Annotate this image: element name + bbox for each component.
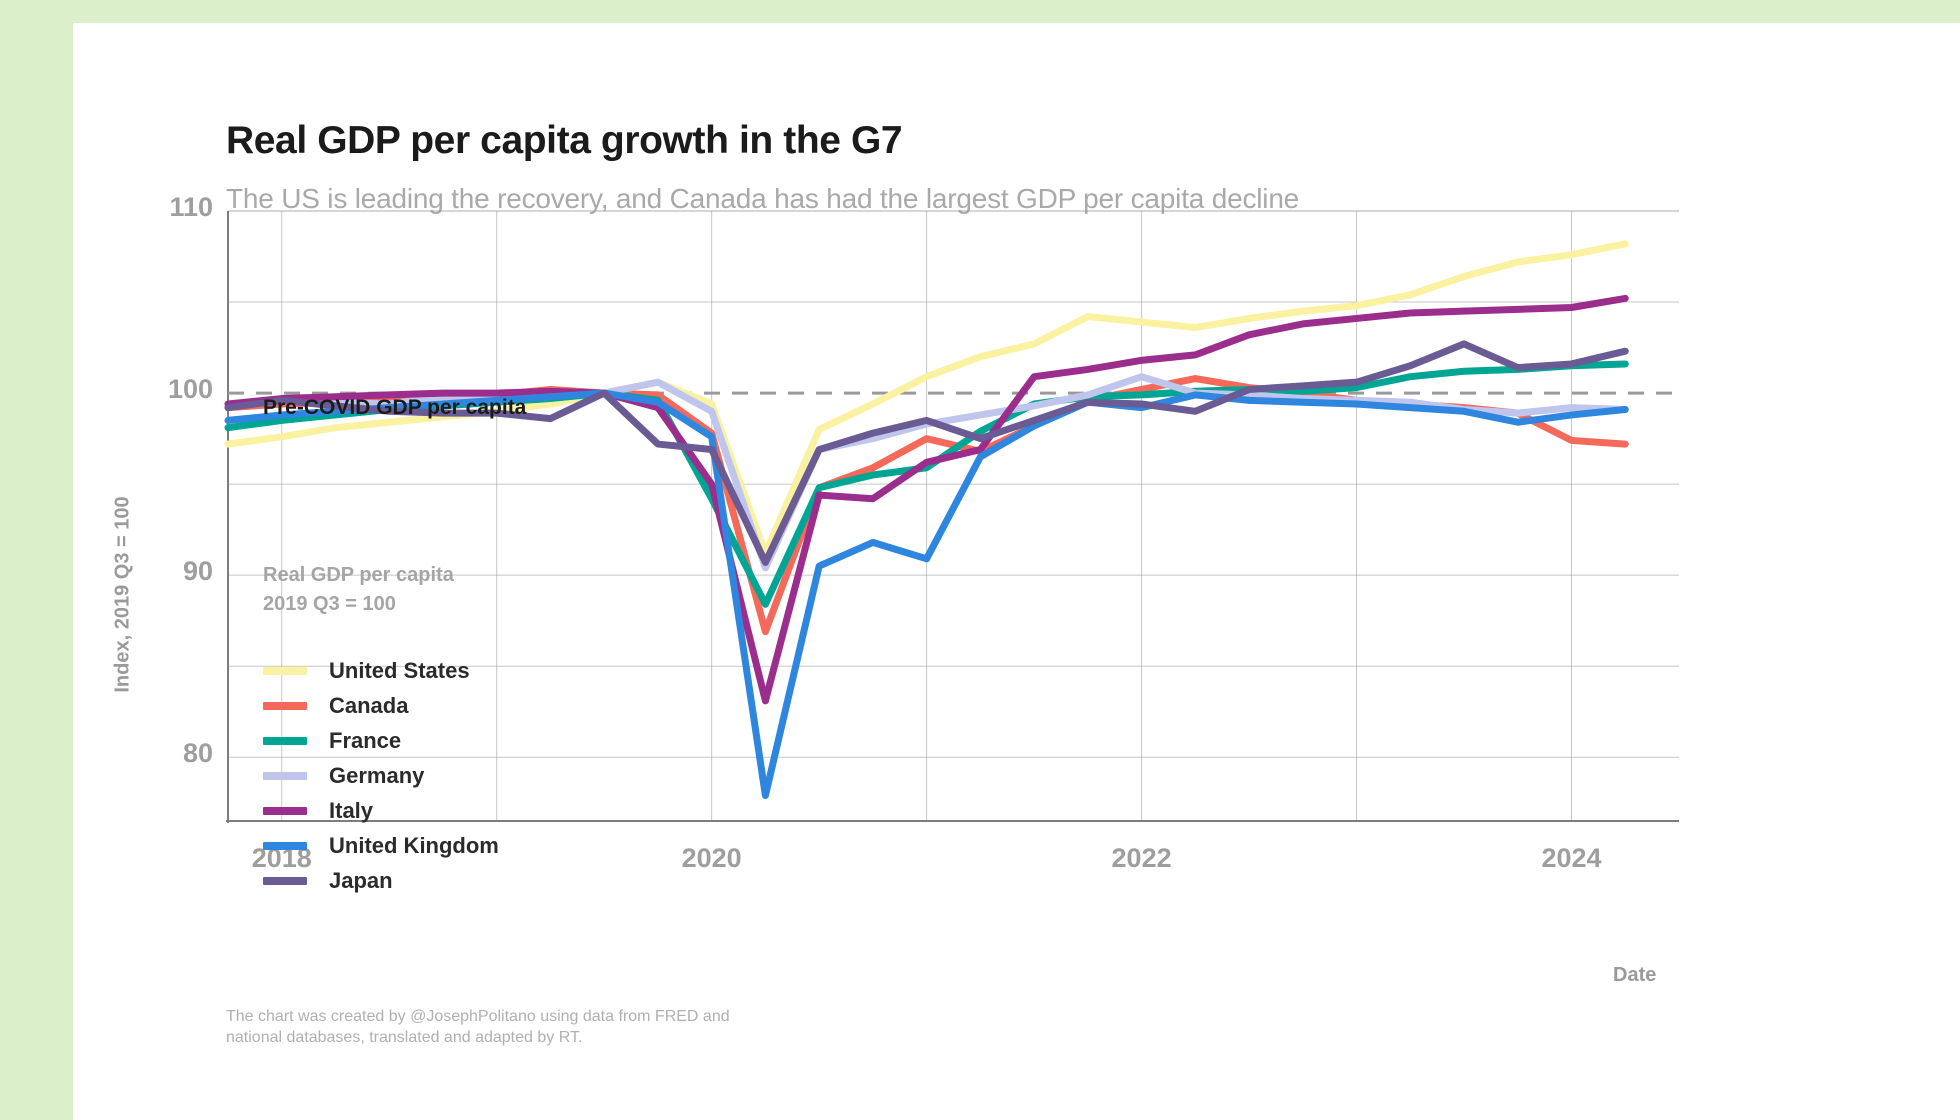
y-tick-100: 100 xyxy=(93,374,213,405)
chart-footer-credit: The chart was created by @JosephPolitano… xyxy=(226,1006,730,1048)
legend-swatch-icon xyxy=(263,877,307,885)
chart-legend: United StatesCanadaFranceGermanyItalyUni… xyxy=(263,653,499,898)
legend-label: United States xyxy=(329,658,470,684)
legend-swatch-icon xyxy=(263,772,307,780)
legend-item-france[interactable]: France xyxy=(263,723,499,758)
legend-swatch-icon xyxy=(263,807,307,815)
precovid-annotation: Pre-COVID GDP per capita xyxy=(263,396,526,420)
legend-label: Germany xyxy=(329,763,424,789)
legend-item-united-states[interactable]: United States xyxy=(263,653,499,688)
chart-card: Real GDP per capita growth in the G7 The… xyxy=(73,23,1960,1120)
y-tick-80: 80 xyxy=(93,738,213,769)
legend-label: Canada xyxy=(329,693,408,719)
legend-label: United Kingdom xyxy=(329,833,499,859)
legend-swatch-icon xyxy=(263,737,307,745)
x-tick-2020: 2020 xyxy=(632,843,792,874)
legend-item-canada[interactable]: Canada xyxy=(263,688,499,723)
legend-label: Japan xyxy=(329,868,393,894)
legend-item-united-kingdom[interactable]: United Kingdom xyxy=(263,828,499,863)
index-note-annotation: Real GDP per capita 2019 Q3 = 100 xyxy=(263,561,454,619)
legend-item-italy[interactable]: Italy xyxy=(263,793,499,828)
legend-label: France xyxy=(329,728,401,754)
y-tick-110: 110 xyxy=(93,192,213,223)
legend-swatch-icon xyxy=(263,842,307,850)
y-tick-90: 90 xyxy=(93,556,213,587)
legend-swatch-icon xyxy=(263,702,307,710)
legend-item-germany[interactable]: Germany xyxy=(263,758,499,793)
legend-swatch-icon xyxy=(263,667,307,675)
x-tick-2022: 2022 xyxy=(1062,843,1222,874)
legend-item-japan[interactable]: Japan xyxy=(263,863,499,898)
x-tick-2024: 2024 xyxy=(1492,843,1652,874)
legend-label: Italy xyxy=(329,798,373,824)
